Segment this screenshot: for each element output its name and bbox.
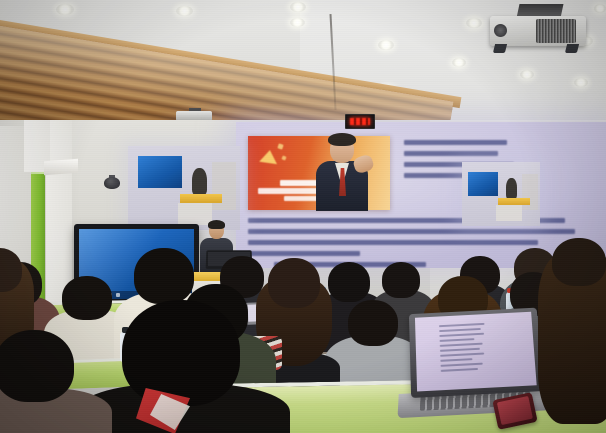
laptop-document	[439, 323, 489, 375]
downlight	[574, 78, 588, 87]
laptop-screen[interactable]	[415, 312, 537, 392]
feed-podium	[498, 198, 530, 205]
left-camera-feed-projection	[128, 146, 240, 230]
document-line	[439, 333, 484, 337]
red-led-sign	[345, 114, 375, 129]
classroom-camera-icon	[104, 175, 120, 191]
student-head	[382, 262, 420, 298]
main-ceiling-projector	[484, 4, 592, 48]
document-line	[441, 368, 479, 372]
camera-dome	[104, 177, 120, 189]
document-line	[440, 348, 480, 352]
student-foreground	[538, 238, 606, 433]
downlight	[176, 6, 193, 16]
student-head	[268, 258, 320, 308]
feed-desk	[496, 205, 522, 221]
downlight	[452, 58, 466, 67]
feed-podium	[180, 194, 222, 203]
document-line	[440, 358, 472, 362]
classroom-photo	[0, 0, 606, 433]
slide-portrait	[308, 132, 374, 210]
slide-text-line	[248, 240, 538, 245]
led-sign-glyphs	[350, 118, 370, 125]
feed-blue-screen	[138, 156, 182, 188]
projector-lens-icon	[494, 24, 507, 37]
slide-text-line	[404, 151, 498, 156]
projector-vent	[536, 19, 576, 43]
document-line	[439, 328, 481, 332]
document-line	[440, 353, 484, 357]
downlight	[520, 70, 534, 79]
student-head	[552, 238, 606, 286]
lecturer-hair	[208, 220, 225, 229]
feed-lecturer	[192, 168, 207, 195]
downlight	[594, 4, 606, 13]
downlight	[378, 40, 394, 50]
student-head	[328, 262, 370, 302]
downlight	[56, 4, 74, 15]
slide-text-line	[248, 229, 575, 234]
jacket-graphic	[130, 384, 214, 433]
student-head	[0, 330, 74, 402]
feed-lecturer	[506, 178, 517, 199]
right-camera-feed-projection	[462, 162, 540, 226]
document-line	[440, 343, 483, 347]
document-line	[439, 323, 485, 327]
downlight	[290, 2, 306, 12]
projector-foot	[493, 44, 507, 53]
slide-text-line	[404, 140, 507, 145]
student-foreground	[0, 330, 100, 433]
projector-foot	[565, 44, 579, 53]
phone-screen[interactable]	[497, 396, 533, 425]
document-line	[440, 363, 483, 367]
document-line	[440, 338, 474, 342]
downlight	[466, 18, 482, 28]
portrait-hair	[328, 133, 356, 146]
wall-ledge	[44, 159, 78, 175]
downlight	[290, 18, 305, 27]
student-head	[348, 300, 398, 346]
feed-blue-screen	[468, 172, 498, 196]
